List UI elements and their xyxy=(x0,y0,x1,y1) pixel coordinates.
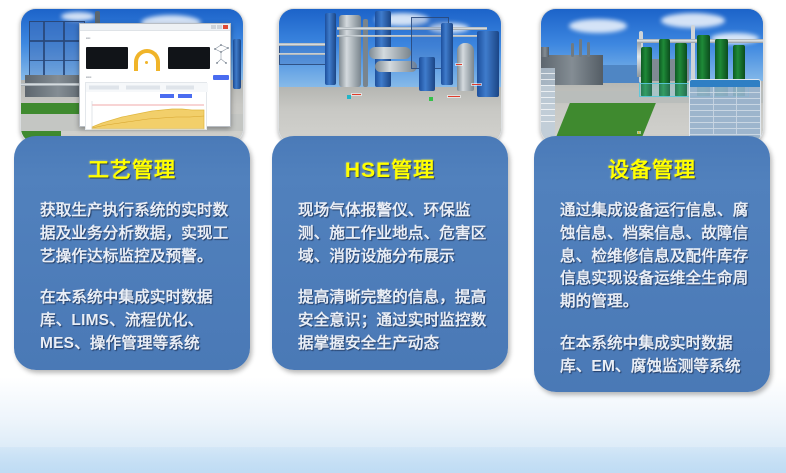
tower xyxy=(233,39,241,89)
dashboard-window[interactable]: ▪▪▪▪ xyxy=(79,23,231,127)
distillation-tower xyxy=(441,23,453,85)
pipe xyxy=(279,43,331,46)
steel-frame xyxy=(43,21,45,81)
dashboard-body: ▪▪▪▪ xyxy=(80,31,230,126)
card-panel-hse: HSE管理 现场气体报警仪、环保监测、施工作业地点、危害区域、消防设施分布展示 … xyxy=(272,136,508,370)
section-label: ▪▪▪▪▪ xyxy=(86,75,91,79)
steel-frame xyxy=(29,41,85,61)
stack xyxy=(579,39,582,57)
card-paragraph-1: 通过集成设备运行信息、腐蚀信息、档案信息、故障信息、检维修信息及配件库存信息实现… xyxy=(534,200,770,314)
alarm-marker[interactable] xyxy=(429,97,433,101)
section-label: ▪▪▪▪ xyxy=(86,36,90,40)
equipment-tag: ▬▬▬ xyxy=(471,83,482,86)
table-row xyxy=(690,129,760,135)
distillation-tower xyxy=(477,31,499,97)
kpi-panel xyxy=(168,47,210,69)
ground xyxy=(279,87,501,143)
stack xyxy=(691,25,695,83)
card-paragraph-2: 在本系统中集成实时数据库、EM、腐蚀监测等系统 xyxy=(534,333,770,379)
minimize-icon[interactable] xyxy=(211,25,216,29)
primary-button[interactable] xyxy=(213,75,229,80)
vessel xyxy=(339,15,361,87)
ground-marker: ◣ xyxy=(637,131,641,134)
card-title: 工艺管理 xyxy=(14,154,250,184)
window-titlebar[interactable] xyxy=(80,24,230,31)
measurement-scale xyxy=(541,68,555,138)
network-diagram xyxy=(214,43,230,69)
scene-3d-equipment: ◣ xyxy=(541,9,763,143)
background-gradient-band xyxy=(0,447,786,473)
card-thumbnail-hse[interactable]: ▬▬▬ ▬▬▬▬ ▬▬ ▬▬▬ xyxy=(278,8,502,144)
maximize-icon[interactable] xyxy=(217,25,222,29)
card-paragraph-1: 获取生产执行系统的实时数据及业务分析数据，实现工艺操作达标监控及预警。 xyxy=(14,200,250,268)
close-icon[interactable] xyxy=(223,25,228,29)
card-title: 设备管理 xyxy=(534,154,770,184)
equipment-tag: ▬▬▬▬ xyxy=(447,95,461,98)
plant-building xyxy=(541,47,549,57)
horizontal-drum xyxy=(369,47,411,59)
stack xyxy=(587,42,590,57)
card-thumbnail-equipment[interactable]: ◣ xyxy=(540,8,764,144)
scene-3d-plant-dashboard: ▪▪▪▪ xyxy=(21,9,243,143)
vessel xyxy=(419,57,435,91)
equipment-tag: ▬▬ xyxy=(455,63,463,66)
card-paragraph-2: 提高清晰完整的信息，提高安全意识；通过实时监控数据掌握安全生产动态 xyxy=(272,287,508,355)
equipment-tag: ▬▬▬ xyxy=(351,93,362,96)
arch-gauge xyxy=(134,49,160,71)
card-paragraph-1: 现场气体报警仪、环保监测、施工作业地点、危害区域、消防设施分布展示 xyxy=(272,200,508,268)
pipe xyxy=(279,53,331,55)
card-paragraph-2: 在本系统中集成实时数据库、LIMS、流程优化、MES、操作管理等系统 xyxy=(14,287,250,355)
distillation-tower xyxy=(325,13,336,85)
scene-3d-refinery: ▬▬▬ ▬▬▬▬ ▬▬ ▬▬▬ xyxy=(279,9,501,143)
cloud-icon xyxy=(569,19,627,33)
equipment-data-table[interactable] xyxy=(689,79,761,141)
card-panel-equipment: 设备管理 通过集成设备运行信息、腐蚀信息、档案信息、故障信息、检维修信息及配件库… xyxy=(534,136,770,392)
table-header xyxy=(690,80,760,87)
steel-frame xyxy=(63,21,65,81)
cloud-icon xyxy=(61,12,95,21)
kpi-panel xyxy=(86,47,128,69)
card-panel-process: 工艺管理 获取生产执行系统的实时数据及业务分析数据，实现工艺操作达标监控及预警。… xyxy=(14,136,250,370)
stack xyxy=(571,43,574,57)
slide-root: ▪▪▪▪ xyxy=(0,0,786,473)
trend-chart xyxy=(85,82,207,130)
steel-frame xyxy=(29,21,85,41)
arch-gauge-dot xyxy=(145,61,148,64)
card-title: HSE管理 xyxy=(272,154,508,184)
card-thumbnail-process[interactable]: ▪▪▪▪ xyxy=(20,8,244,144)
